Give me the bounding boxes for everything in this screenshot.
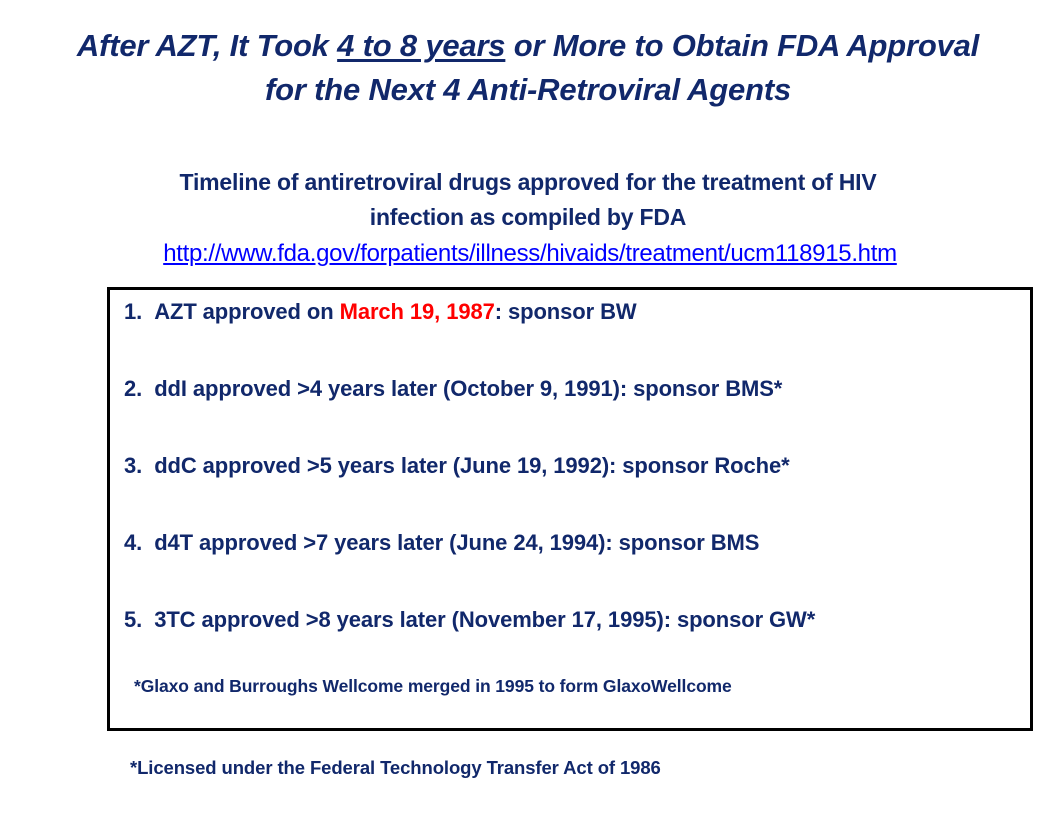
list-item-number: 5. — [124, 607, 142, 632]
subtitle-line-1: Timeline of antiretroviral drugs approve… — [180, 169, 877, 195]
list-item-after-date: ): sponsor GW* — [656, 607, 815, 632]
list-item-date: November 17, 1995 — [459, 607, 657, 632]
list-item-number: 4. — [124, 530, 142, 555]
list-item-date: March 19, 1987 — [340, 299, 495, 324]
list-item: 1. AZT approved on March 19, 1987: spons… — [124, 299, 637, 325]
list-item: 4. d4T approved >7 years later (June 24,… — [124, 530, 759, 556]
title-line-2: for the Next 4 Anti-Retroviral Agents — [265, 72, 791, 107]
subtitle-line-2: infection as compiled by FDA — [370, 204, 686, 230]
list-item-after-date: ): sponsor BMS* — [613, 376, 783, 401]
list-item-after-date: ): sponsor Roche* — [602, 453, 790, 478]
list-item-before-date: approved >4 years later ( — [187, 376, 450, 401]
list-item-after-date: : sponsor BW — [495, 299, 637, 324]
title-text-after-underline: or More to Obtain FDA Approval — [505, 28, 979, 63]
list-item-before-date: approved >7 years later ( — [193, 530, 456, 555]
subtitle: Timeline of antiretroviral drugs approve… — [40, 165, 1016, 235]
slide-canvas: After AZT, It Took 4 to 8 years or More … — [0, 0, 1056, 816]
list-item-drug: AZT — [154, 299, 196, 324]
title-line-1: After AZT, It Took 4 to 8 years or More … — [77, 28, 979, 63]
list-item-number: 3. — [124, 453, 142, 478]
list-item-before-date: approved >8 years later ( — [195, 607, 458, 632]
list-item-date: October 9, 1991 — [450, 376, 612, 401]
title-underlined-phrase: 4 to 8 years — [337, 28, 505, 63]
title-text-before-underline: After AZT, It Took — [77, 28, 337, 63]
approval-timeline-box: 1. AZT approved on March 19, 1987: spons… — [107, 287, 1033, 731]
list-item: 3. ddC approved >5 years later (June 19,… — [124, 453, 790, 479]
source-url-container: http://www.fda.gov/forpatients/illness/h… — [20, 240, 1040, 268]
list-item-after-date: ): sponsor BMS — [598, 530, 759, 555]
list-item-drug: ddC — [154, 453, 196, 478]
merger-footnote: *Glaxo and Burroughs Wellcome merged in … — [134, 676, 732, 697]
list-item: 2. ddI approved >4 years later (October … — [124, 376, 782, 402]
list-item-drug: 3TC — [154, 607, 195, 632]
list-item-date: June 19, 1992 — [460, 453, 602, 478]
list-item-date: June 24, 1994 — [456, 530, 598, 555]
approval-list: 1. AZT approved on March 19, 1987: spons… — [110, 290, 1030, 728]
list-item-before-date: approved >5 years later ( — [197, 453, 460, 478]
page-title: After AZT, It Took 4 to 8 years or More … — [24, 24, 1032, 112]
list-item-number: 2. — [124, 376, 142, 401]
fda-source-link[interactable]: http://www.fda.gov/forpatients/illness/h… — [163, 240, 897, 267]
list-item-drug: ddI — [154, 376, 187, 401]
list-item: 5. 3TC approved >8 years later (November… — [124, 607, 815, 633]
list-item-drug: d4T — [154, 530, 193, 555]
license-footnote: *Licensed under the Federal Technology T… — [130, 757, 661, 779]
list-item-number: 1. — [124, 299, 142, 324]
list-item-before-date: approved on — [197, 299, 340, 324]
